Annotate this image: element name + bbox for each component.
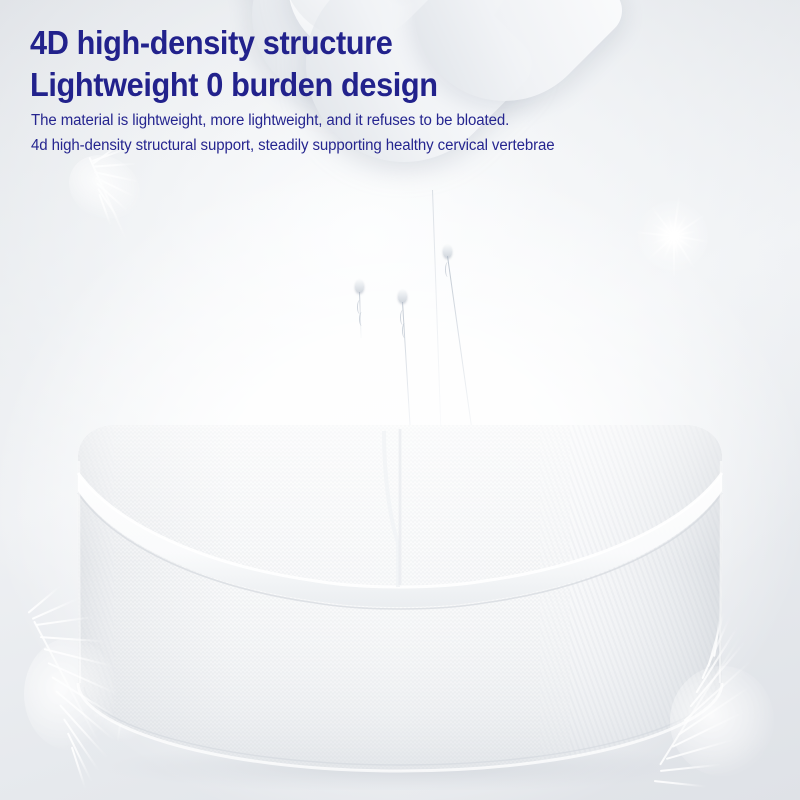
subtext-line-2: 4d high-density structural support, stea… <box>31 134 555 158</box>
cervical-neck-brace <box>70 415 730 790</box>
balloon-string <box>359 312 365 326</box>
balloon-string <box>402 323 408 338</box>
headline-line-1: 4D high-density structure <box>30 22 392 63</box>
subtext-line-1: The material is lightweight, more lightw… <box>31 109 509 133</box>
headline-line-2: Lightweight 0 burden design <box>30 64 438 105</box>
balloon-string <box>432 190 442 452</box>
brace-right-edge <box>720 461 721 683</box>
product-banner: 4D high-density structure Lightweight 0 … <box>0 0 800 800</box>
balloon-string <box>445 262 451 277</box>
brace-left-edge <box>79 461 80 683</box>
